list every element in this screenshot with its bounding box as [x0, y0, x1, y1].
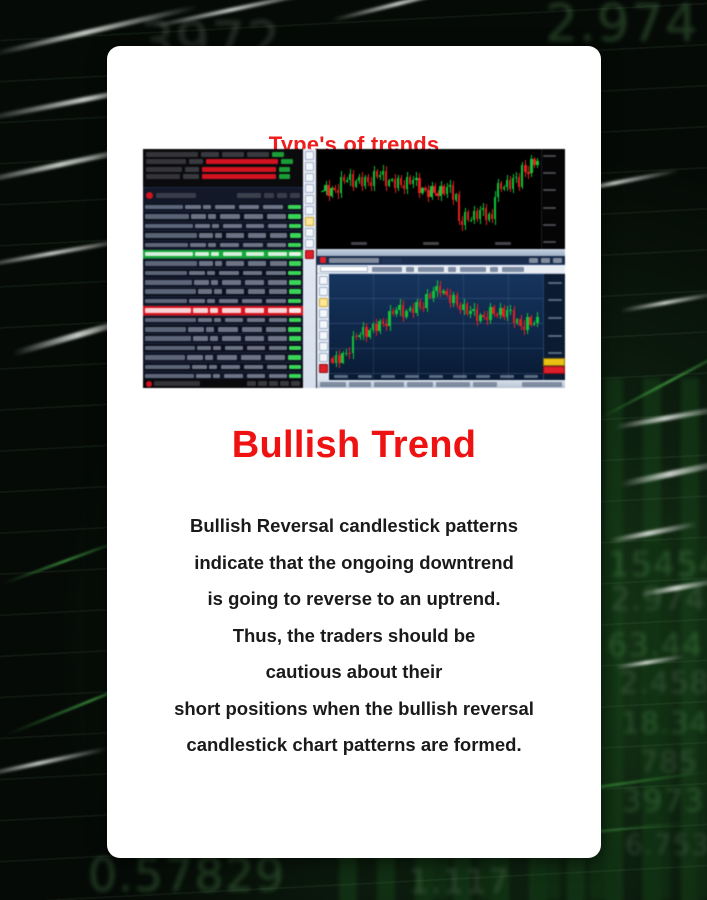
toolbar-icon[interactable]: [305, 206, 314, 215]
watch-panel-footer: [143, 379, 303, 388]
candle-body: [466, 304, 469, 314]
toolbar-icon[interactable]: [305, 228, 314, 237]
watch-cell: [219, 271, 239, 276]
candle-body: [367, 177, 369, 182]
watch-cell: [223, 224, 242, 229]
candle-body: [515, 177, 517, 179]
candle-body: [418, 178, 420, 194]
candle-body: [364, 177, 366, 186]
watch-cell: [198, 318, 212, 323]
candle-body: [469, 311, 472, 314]
background-number: 6.753: [625, 828, 707, 861]
toolbar-icon-stop[interactable]: [305, 250, 314, 259]
watch-cell-percent: [289, 224, 301, 229]
watch-cell: [241, 355, 261, 360]
watch-cell: [187, 355, 203, 360]
watch-cell: [221, 365, 240, 370]
candle-body: [500, 183, 502, 189]
candle-body: [489, 307, 492, 320]
candle-body: [424, 188, 426, 190]
watch-cell: [243, 271, 263, 276]
background-number: 2.458: [619, 666, 707, 701]
candle-body: [375, 324, 378, 331]
watch-cell: [213, 374, 220, 379]
watch-cell-percent: [288, 355, 301, 360]
chart-tool-icon-selected[interactable]: [319, 298, 328, 307]
watch-cell: [210, 308, 218, 313]
watch-cell: [195, 224, 210, 229]
candle-body: [341, 353, 344, 363]
candle-body: [355, 336, 358, 338]
watch-cell: [215, 205, 235, 210]
candle-body: [518, 177, 520, 187]
toolbar-icon[interactable]: [305, 239, 314, 248]
candle-body: [361, 177, 363, 186]
candle-body: [333, 188, 335, 190]
chart-tool-icon[interactable]: [319, 342, 328, 351]
candle-body: [473, 211, 475, 220]
watch-cell: [208, 214, 216, 219]
watch-cell-percent: [288, 243, 301, 248]
candle-body: [422, 307, 425, 309]
price-tag-bid: [543, 366, 565, 374]
watch-list-row[interactable]: [143, 269, 303, 278]
candle-body: [391, 179, 393, 181]
price-axis-blue: [543, 274, 565, 380]
candle-body: [365, 327, 368, 337]
candle-body: [467, 212, 469, 219]
watch-cell: [145, 280, 192, 285]
watch-list-row[interactable]: [143, 259, 303, 268]
toolbar-icon-selected[interactable]: [305, 217, 314, 226]
candle-body: [331, 358, 334, 363]
candle-body: [345, 353, 348, 355]
screenshot-root: 39722.97463154542.97463.442.45818.347853…: [0, 0, 707, 900]
background-number: 18.34: [621, 706, 707, 740]
toolbar-icon[interactable]: [305, 195, 314, 204]
background-number: 785: [640, 745, 698, 779]
candle-body: [439, 186, 441, 196]
watch-cell: [222, 308, 241, 313]
watch-cell: [269, 289, 287, 294]
candle-body: [486, 317, 489, 320]
candle-body: [442, 291, 445, 293]
watch-cell: [268, 336, 287, 341]
watch-cell: [185, 205, 201, 210]
candle-body: [388, 180, 390, 185]
watch-cell: [270, 261, 288, 266]
watch-list-row[interactable]: [143, 334, 303, 343]
watch-cell: [208, 243, 216, 248]
watch-cell: [222, 280, 241, 285]
candle-body: [479, 315, 482, 322]
watch-cell-percent: [289, 280, 301, 285]
candle-body: [429, 294, 432, 298]
watch-cell: [207, 271, 215, 276]
candle-body: [400, 178, 402, 185]
watch-cell: [219, 299, 239, 304]
watch-cell: [263, 205, 283, 210]
candle-body: [449, 295, 452, 304]
candle-body: [439, 286, 442, 293]
watch-cell: [226, 261, 244, 266]
watch-cell: [268, 308, 287, 313]
watch-cell: [245, 280, 264, 285]
chart-tool-icon[interactable]: [319, 353, 328, 362]
watch-cell: [248, 261, 266, 266]
price-tag-current: [543, 358, 565, 366]
watch-cell: [145, 271, 187, 276]
candle-body: [372, 324, 375, 329]
watch-cell: [247, 318, 265, 323]
watch-cell: [215, 261, 222, 266]
watch-cell-percent: [289, 252, 301, 257]
window-toolbar[interactable]: [317, 265, 565, 274]
watch-cell: [247, 346, 265, 351]
candlestick-chart-blue: [316, 249, 565, 388]
chart-tool-icon[interactable]: [319, 309, 328, 318]
watch-list-row[interactable]: [143, 363, 303, 372]
watch-cell: [189, 299, 205, 304]
watch-list-row[interactable]: [143, 212, 303, 221]
candle-body: [373, 171, 375, 185]
candle-body: [458, 194, 460, 221]
candle-body: [482, 208, 484, 210]
candle-series-bottom: [329, 274, 543, 380]
candle-body: [503, 187, 505, 190]
watch-cell-percent: [289, 261, 301, 266]
candle-body: [392, 311, 395, 314]
watch-cell: [266, 299, 286, 304]
candle-body: [385, 324, 388, 326]
watch-cell: [199, 261, 213, 266]
background-number: 63.44: [607, 626, 704, 664]
watch-cell: [267, 365, 286, 370]
watch-cell-percent: [289, 374, 301, 379]
toolbar-icon[interactable]: [305, 162, 314, 171]
watch-cell: [145, 336, 191, 341]
watch-list-row[interactable]: [143, 231, 303, 240]
watch-cell: [145, 252, 193, 257]
candle-body: [476, 211, 478, 219]
toolbar-icon[interactable]: [305, 184, 314, 193]
candle-body: [388, 311, 391, 326]
candle-body: [492, 307, 495, 314]
watch-cell: [212, 224, 219, 229]
candle-body: [506, 310, 509, 317]
candle-body: [497, 183, 499, 197]
watch-cell: [145, 261, 197, 266]
candle-body: [432, 291, 435, 298]
candle-body: [409, 308, 412, 311]
watch-cell: [193, 308, 208, 313]
candle-body: [430, 186, 432, 197]
candle-body: [415, 302, 418, 313]
watch-cell: [267, 214, 286, 219]
watch-list-row[interactable]: [143, 278, 303, 287]
watch-list-row[interactable]: [143, 344, 303, 353]
candle-body: [455, 194, 457, 199]
watch-cell: [245, 308, 264, 313]
watch-cell: [197, 346, 212, 351]
candle-body: [476, 309, 479, 321]
chart-tools-sidebar[interactable]: [317, 274, 329, 380]
window-title-bar: [317, 249, 565, 256]
watch-cell: [226, 289, 244, 294]
watch-cell-percent: [288, 214, 301, 219]
vertical-toolbar[interactable]: [303, 149, 316, 388]
candle-body: [530, 159, 532, 173]
chart-tool-icon[interactable]: [319, 287, 328, 296]
candle-body: [512, 178, 514, 188]
watch-cell: [246, 252, 265, 257]
watch-cell: [191, 214, 207, 219]
watch-header-row: [146, 166, 300, 172]
chart-plot-area: [329, 274, 543, 380]
description-line: is going to reverse to an uptrend.: [117, 581, 591, 618]
watch-cell-percent: [289, 365, 301, 370]
time-labels-top: [323, 242, 539, 246]
background-number: 15454: [608, 545, 707, 585]
candle-body: [368, 330, 371, 337]
watch-cell: [267, 243, 287, 248]
chart-tool-icon-stop[interactable]: [319, 364, 328, 373]
candle-body: [519, 319, 522, 326]
candle-body: [502, 308, 505, 317]
watch-list-row[interactable]: [143, 325, 303, 334]
candle-body: [506, 180, 508, 187]
candle-body: [536, 317, 539, 323]
candle-body: [452, 185, 454, 199]
background-number: 2.974: [610, 580, 707, 618]
candle-body: [378, 321, 381, 331]
candle-body: [496, 314, 499, 316]
watch-cell: [145, 346, 195, 351]
watch-header-row: [146, 151, 300, 157]
candle-body: [349, 174, 351, 180]
watch-cell: [145, 214, 189, 219]
candle-body: [485, 208, 487, 220]
candle-body: [524, 165, 526, 173]
watch-cell: [211, 280, 219, 285]
candle-body: [370, 182, 372, 185]
watch-column-headers: [143, 187, 303, 203]
watch-cell-percent: [289, 336, 301, 341]
chart-tool-icon[interactable]: [319, 331, 328, 340]
candle-body: [479, 210, 481, 219]
candle-body: [335, 355, 338, 363]
watch-cell: [220, 243, 240, 248]
description-line: short positions when the bullish reversa…: [117, 691, 591, 728]
watch-cell: [243, 243, 263, 248]
watch-cell: [211, 252, 218, 257]
background-number: 3973: [622, 783, 705, 819]
watch-list-row[interactable]: [143, 316, 303, 325]
time-axis-blue: [329, 373, 543, 380]
watch-cell: [225, 346, 243, 351]
watch-list-row[interactable]: [143, 297, 303, 306]
background-number: 1.117: [408, 862, 510, 900]
toolbar-icon[interactable]: [305, 173, 314, 182]
watch-cell: [209, 365, 217, 370]
watch-header-row: [146, 159, 300, 165]
candle-body: [376, 171, 378, 176]
watch-cell: [247, 374, 265, 379]
watch-cell: [266, 327, 286, 332]
watch-cell: [270, 233, 288, 238]
description-line: Bullish Reversal candlestick patterns: [117, 508, 591, 545]
candle-body: [461, 221, 463, 225]
candle-body: [425, 294, 428, 308]
candle-body: [346, 180, 348, 182]
candle-body: [421, 188, 423, 193]
watch-header-row: [146, 174, 300, 180]
content-card: Type's of trends: [107, 46, 601, 858]
candle-body: [355, 181, 357, 187]
description-text: Bullish Reversal candlestick patternsind…: [117, 508, 591, 764]
watch-cell: [218, 327, 238, 332]
watch-panel-header: [143, 149, 303, 187]
candle-body: [456, 295, 459, 305]
candle-body: [379, 175, 381, 177]
watch-list-row[interactable]: [143, 306, 303, 315]
watch-cell: [198, 289, 212, 294]
candle-body: [397, 178, 399, 188]
candle-body: [442, 186, 444, 194]
watch-rows[interactable]: [143, 203, 303, 379]
market-watch-panel: [143, 149, 303, 388]
watch-cell: [220, 214, 239, 219]
watch-cell: [268, 224, 287, 229]
section-heading: Bullish Trend: [107, 424, 601, 467]
watch-cell-percent: [289, 346, 301, 351]
watch-cell-percent: [288, 327, 301, 332]
candle-body: [462, 304, 465, 311]
candle-body: [472, 309, 475, 311]
candle-body: [412, 308, 415, 314]
watch-cell: [145, 289, 196, 294]
watch-cell: [239, 205, 259, 210]
candle-body: [529, 317, 532, 324]
watch-cell: [195, 252, 210, 257]
watch-list-row[interactable]: [143, 250, 303, 259]
candle-body: [536, 161, 538, 166]
watch-cell: [189, 271, 205, 276]
candle-body: [491, 214, 493, 219]
candle-body: [348, 353, 351, 355]
candle-body: [405, 311, 408, 318]
watch-cell: [224, 374, 242, 379]
watch-cell: [205, 355, 213, 360]
watch-list-row[interactable]: [143, 353, 303, 362]
watch-list-row[interactable]: [143, 222, 303, 231]
watch-cell: [145, 355, 185, 360]
description-line: Thus, the traders should be: [117, 618, 591, 655]
watch-cell: [268, 280, 287, 285]
watch-cell: [226, 233, 244, 238]
watch-cell: [242, 299, 262, 304]
watch-cell: [193, 336, 208, 341]
candle-body: [409, 177, 411, 184]
candle-body: [419, 302, 422, 307]
candle-body: [382, 321, 385, 324]
description-line: indicate that the ongoing downtrend: [117, 545, 591, 582]
chart-tool-icon[interactable]: [319, 320, 328, 329]
candle-body: [324, 185, 326, 191]
watch-list-row[interactable]: [143, 241, 303, 250]
watch-cell: [244, 214, 263, 219]
candle-body: [436, 193, 438, 195]
watch-cell: [145, 224, 193, 229]
candle-body: [449, 185, 451, 187]
watch-cell: [188, 327, 204, 332]
watch-cell: [145, 318, 196, 323]
candle-body: [427, 190, 429, 196]
candle-body: [385, 171, 387, 186]
watch-cell: [214, 289, 221, 294]
watch-cell: [145, 365, 190, 370]
watch-cell: [266, 271, 286, 276]
candle-body: [526, 317, 529, 329]
candle-body: [533, 323, 536, 325]
candle-body: [395, 310, 398, 314]
candle-body: [464, 212, 466, 225]
candle-body: [445, 291, 448, 295]
candle-body: [521, 165, 523, 187]
watch-cell: [248, 289, 266, 294]
candle-body: [499, 308, 502, 315]
candle-body: [402, 305, 405, 317]
candle-body: [482, 315, 485, 317]
candle-body: [321, 191, 323, 193]
watch-cell: [206, 327, 214, 332]
window-menu-bar: [317, 256, 565, 265]
watch-list-row[interactable]: [143, 203, 303, 212]
watch-cell: [203, 205, 211, 210]
candle-body: [533, 159, 535, 165]
watch-cell: [268, 252, 287, 257]
watch-cell: [145, 243, 188, 248]
candle-body: [358, 177, 360, 181]
toolbar-icon[interactable]: [305, 151, 314, 160]
candle-body: [394, 179, 396, 187]
watch-cell: [225, 318, 243, 323]
watch-cell: [222, 336, 241, 341]
watch-cell-percent: [290, 233, 302, 238]
watch-cell-percent: [289, 308, 301, 313]
candle-body: [412, 180, 414, 184]
candlestick-chart-black: [316, 149, 565, 249]
watch-cell: [215, 233, 222, 238]
watch-cell: [265, 355, 285, 360]
candle-body: [406, 177, 408, 189]
watch-cell: [196, 374, 211, 379]
watch-list-row[interactable]: [143, 288, 303, 297]
watch-cell: [269, 374, 287, 379]
candle-body: [433, 186, 435, 194]
candle-body: [415, 178, 417, 180]
candle-body: [523, 326, 526, 329]
watch-cell: [269, 318, 287, 323]
candle-body: [446, 187, 448, 193]
chart-tool-icon[interactable]: [319, 276, 328, 285]
watch-cell: [190, 243, 206, 248]
watch-cell-percent: [288, 299, 301, 304]
candle-body: [338, 355, 341, 363]
trading-platform-image: [143, 149, 565, 388]
candle-body: [382, 171, 384, 175]
watch-cell: [145, 308, 191, 313]
